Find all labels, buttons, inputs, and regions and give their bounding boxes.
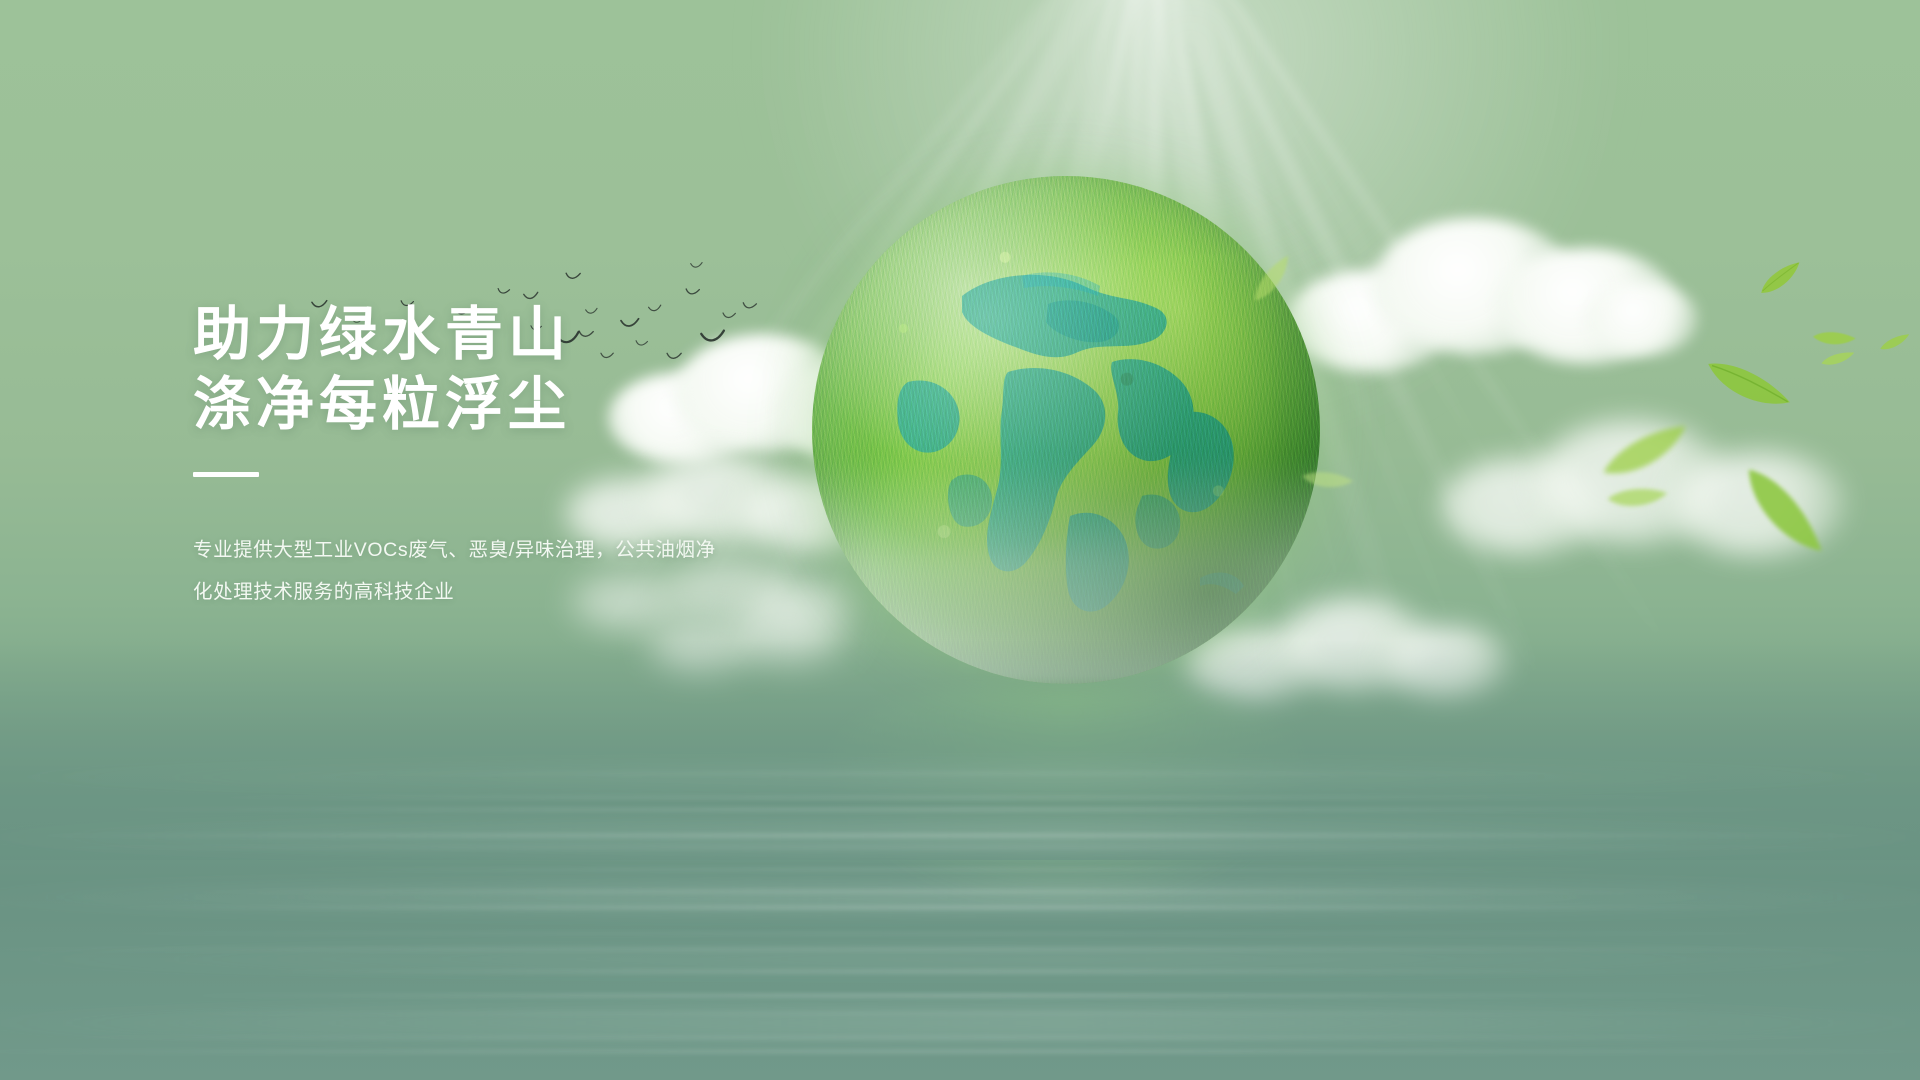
leaf-8 <box>1594 422 1697 487</box>
leaf-4 <box>1877 331 1913 354</box>
subtitle-line-1: 专业提供大型工业VOCs废气、恶臭/异味治理，公共油烟净 <box>193 529 753 571</box>
water-ripple <box>35 1012 1884 1015</box>
water-ripple <box>207 868 1712 871</box>
water-ripple <box>121 796 1798 799</box>
subtitle-line-2: 化处理技术服务的高科技企业 <box>193 571 753 613</box>
water-ripple <box>0 1050 1920 1053</box>
headline-line-1: 助力绿水青山 <box>193 300 913 370</box>
water-band <box>0 764 1920 790</box>
cloud-right-mid <box>1440 400 1860 590</box>
water-ripple <box>207 970 1712 973</box>
bird-icon <box>685 287 701 296</box>
water-band <box>0 820 1920 854</box>
title-divider <box>193 472 259 477</box>
water-band <box>0 946 1920 972</box>
page-title: 助力绿水青山 涤净每粒浮尘 <box>193 300 913 440</box>
water-ripple <box>0 834 1920 837</box>
bird-icon <box>497 287 511 295</box>
water-ripple <box>0 948 1920 951</box>
hero-copy: 助力绿水青山 涤净每粒浮尘 专业提供大型工业VOCs废气、恶臭/异味治理，公共油… <box>193 300 913 613</box>
water-ripple <box>121 994 1798 997</box>
bird-icon <box>565 272 581 281</box>
hero-banner: 助力绿水青山 涤净每粒浮尘 专业提供大型工业VOCs废气、恶臭/异味治理，公共油… <box>0 0 1920 1080</box>
water-ripple <box>0 932 1920 935</box>
water-ripple <box>0 1036 1920 1039</box>
globe-water-reflection <box>826 690 1306 900</box>
leaf-3 <box>1819 350 1857 369</box>
hero-subtitle: 专业提供大型工业VOCs废气、恶臭/异味治理，公共油烟净 化处理技术服务的高科技… <box>193 529 753 613</box>
cloud-right-upper <box>1280 200 1700 410</box>
water-band <box>0 882 1920 912</box>
water-ripple <box>207 772 1712 775</box>
water-ripple <box>35 808 1884 811</box>
water-surface <box>0 750 1920 1080</box>
leaf-9 <box>1604 482 1669 516</box>
bird-icon <box>690 262 703 269</box>
water-ripple <box>0 846 1920 849</box>
water-band <box>0 1006 1920 1040</box>
water-ripple <box>121 890 1798 893</box>
water-ripple <box>35 906 1884 909</box>
headline-line-2: 涤净每粒浮尘 <box>193 370 913 440</box>
leaf-7 <box>1734 454 1826 573</box>
leaf-2 <box>1811 326 1858 353</box>
leaf-6 <box>1698 344 1794 431</box>
leaf-1 <box>1753 257 1809 301</box>
